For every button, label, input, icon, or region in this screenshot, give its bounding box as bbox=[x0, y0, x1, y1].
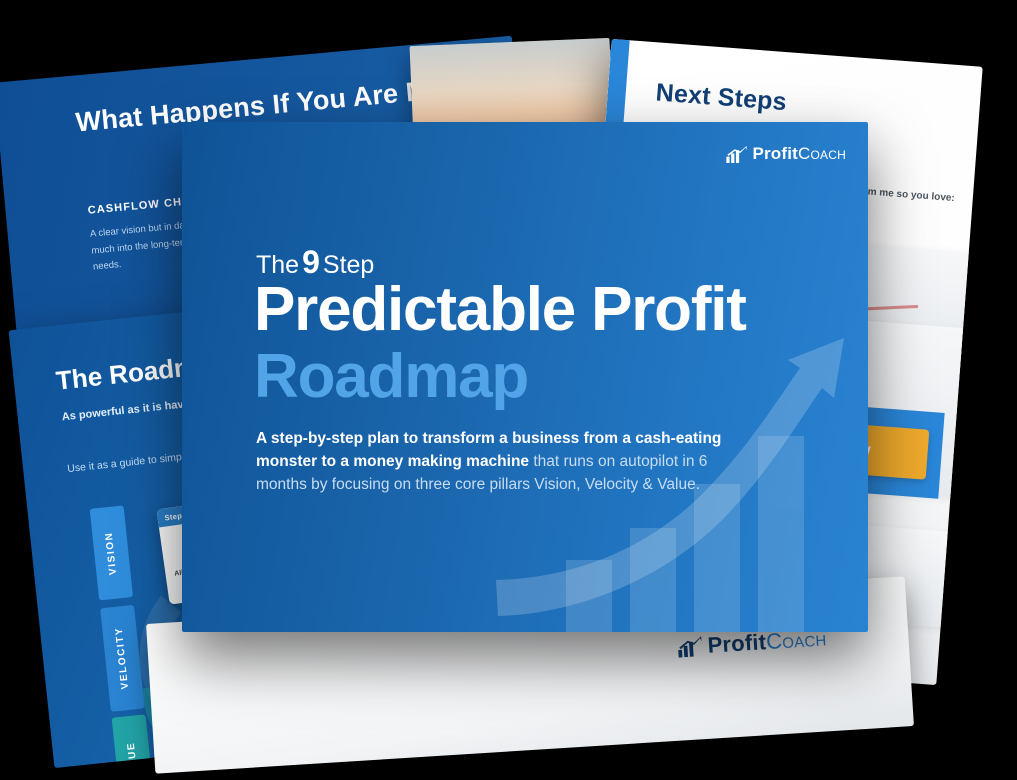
mockup-stage: What Happens If You Are Missing CASHFLOW… bbox=[0, 0, 1017, 780]
profitcoach-logo: ProfitCoach bbox=[726, 144, 846, 164]
pillar-vision: VISION bbox=[90, 505, 133, 600]
next-steps-title: Next Steps bbox=[655, 78, 788, 117]
pillar-value: VALUE bbox=[112, 714, 155, 768]
logo-word-coach: Coach bbox=[798, 144, 846, 163]
logo-word-profit: Profit bbox=[707, 629, 767, 658]
front-title-line2: Roadmap bbox=[254, 344, 528, 409]
bar-chart-arrow-icon bbox=[726, 146, 748, 163]
pillar-velocity: VELOCITY bbox=[100, 605, 145, 712]
front-description: A step-by-step plan to transform a busin… bbox=[256, 428, 756, 497]
sky-gradient bbox=[410, 38, 613, 118]
bar-chart-arrow-icon bbox=[677, 636, 704, 658]
card-front-cover[interactable]: ProfitCoach The9Step Predictable Profit … bbox=[182, 122, 868, 632]
front-title-line1: Predictable Profit bbox=[254, 277, 746, 342]
logo-word-profit: Profit bbox=[752, 144, 798, 163]
